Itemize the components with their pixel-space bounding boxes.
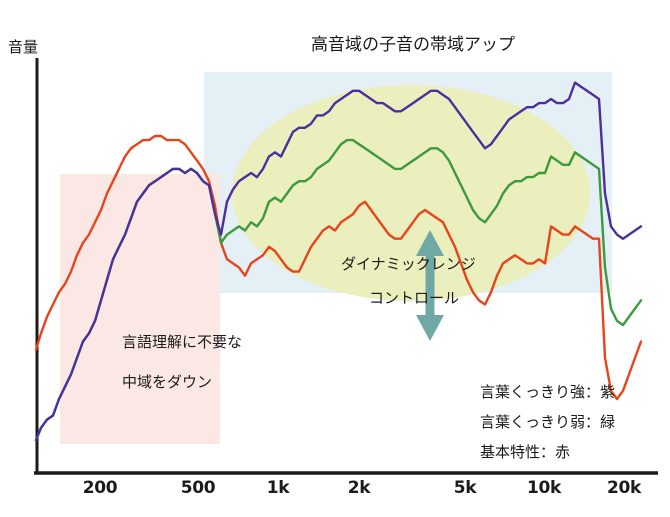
chart-title: 高音域の子音の帯域アップ xyxy=(311,30,515,55)
x-tick-1k: 1k xyxy=(267,478,290,498)
annotation-mid-down-line1: 言語理解に不要な xyxy=(122,331,242,352)
annotation-dynamic-range-line2: コントロール xyxy=(369,287,459,308)
x-tick-10k: 10k xyxy=(527,478,561,498)
chart-canvas xyxy=(0,0,670,517)
x-tick-20k: 20k xyxy=(607,478,641,498)
annotation-mid-down-line2: 中域をダウン xyxy=(122,371,212,392)
x-tick-500: 500 xyxy=(181,478,216,498)
annotation-dynamic-range-line1: ダイナミックレンジ xyxy=(341,253,476,274)
x-tick-5k: 5k xyxy=(454,478,477,498)
frequency-response-chart: 音量 高音域の子音の帯域アップ 200 500 1k 2k 5k 10k 20k… xyxy=(0,0,670,517)
legend-entry-basic: 基本特性：赤 xyxy=(480,441,570,462)
x-tick-2k: 2k xyxy=(348,478,371,498)
y-axis-label: 音量 xyxy=(8,36,38,57)
legend-entry-clarity-strong: 言葉くっきり強：紫 xyxy=(480,381,615,402)
mid-band-region xyxy=(60,174,220,444)
legend-entry-clarity-weak: 言葉くっきり弱：緑 xyxy=(480,411,615,432)
x-tick-200: 200 xyxy=(83,478,118,498)
